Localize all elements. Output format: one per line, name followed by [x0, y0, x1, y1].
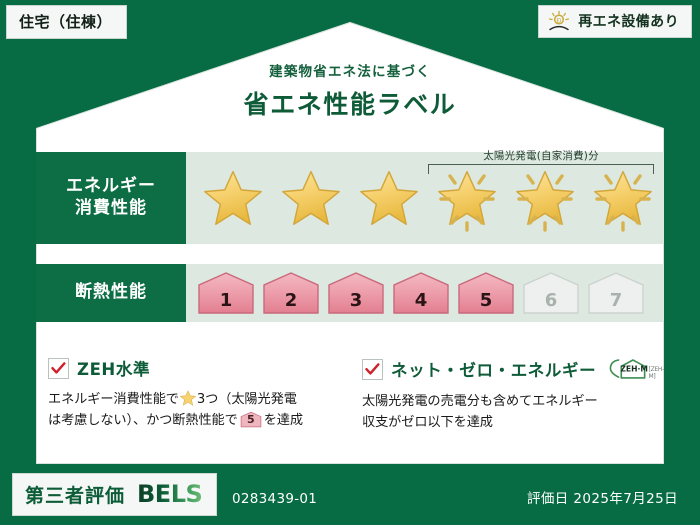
zeh-m-logo-subtext: [ZEH-M] — [649, 366, 669, 382]
star-icon — [594, 169, 652, 227]
renewable-equipment-badge: Ɖ 再エネ設備あり — [538, 5, 692, 38]
net-zero-description: 太陽光発電の売電分も含めてエネルギー 収支がゼロ以下を達成 — [362, 391, 662, 434]
insulation-level-number: 4 — [415, 290, 428, 315]
zeh-m-house-icon: ZEH·M — [606, 356, 647, 382]
renewable-badge-label: 再エネ設備あり — [578, 11, 679, 31]
zeh-standard-heading: ZEH水準 — [48, 356, 348, 380]
insulation-level: 1 — [196, 271, 256, 315]
energy-label-line1: エネルギー — [66, 176, 156, 198]
insulation-level: 4 — [391, 271, 451, 315]
solar-portion-annotation: 太陽光発電(自家消費)分 — [418, 148, 664, 174]
star-icon — [360, 169, 418, 227]
net-zero-energy-section: ネット・ゼロ・エネルギー ZEH·M [ZEH-M] 太陽光発電の売電分も含めて… — [362, 356, 662, 434]
star-icon — [516, 169, 574, 227]
insulation-level-number: 7 — [610, 290, 623, 315]
star-item — [350, 152, 428, 244]
bels-logo-text: BELS — [137, 480, 202, 508]
insulation-level-number: 5 — [480, 290, 493, 315]
insulation-level: 7 — [586, 271, 646, 315]
zeh-standard-section: ZEH水準 エネルギー消費性能で3つ（太陽光発電 は考慮しない）、かつ断熱性能で… — [48, 356, 348, 432]
net-zero-heading: ネット・ゼロ・エネルギー ZEH·M [ZEH-M] — [362, 356, 662, 382]
insulation-level-number: 6 — [545, 290, 558, 315]
insulation-level-number: 1 — [220, 290, 233, 315]
insulation-level: 2 — [261, 271, 321, 315]
energy-label-line2: 消費性能 — [75, 198, 147, 220]
star-icon — [438, 169, 496, 227]
checkbox-zeh-standard[interactable] — [48, 358, 69, 379]
solar-annotation-label: 太陽光発電(自家消費)分 — [418, 148, 664, 163]
insulation-scale-track: 1 2 3 4 — [186, 264, 664, 322]
bels-certification-plate: 第三者評価 BELS — [12, 473, 217, 516]
bels-energy-label: 住宅（住棟） Ɖ 再エネ設備あり 建築物省エネ法に基づく 省エネ性能ラベル エネ… — [0, 0, 700, 525]
zeh-m-logo: ZEH·M [ZEH-M] — [606, 356, 668, 382]
sun-icon: Ɖ — [547, 10, 571, 32]
solar-bracket — [428, 164, 654, 174]
checkbox-net-zero[interactable] — [362, 359, 383, 380]
third-party-eval-label: 第三者評価 — [25, 481, 125, 508]
insulation-level-number: 3 — [350, 290, 363, 315]
insulation-level-number: 2 — [285, 290, 298, 315]
zeh-desc-part2: は考慮しない）、かつ断熱性能で — [48, 413, 238, 428]
insulation-level-inline: 5 — [240, 411, 262, 428]
building-type-tag: 住宅（住棟） — [6, 5, 127, 39]
zeh-desc-part3: を達成 — [264, 413, 303, 428]
evaluation-date: 評価日 2025年7月25日 — [527, 487, 678, 507]
svg-text:Ɖ: Ɖ — [557, 17, 562, 24]
svg-text:ZEH·M: ZEH·M — [621, 365, 648, 374]
energy-performance-label: エネルギー 消費性能 — [36, 152, 186, 244]
insulation-level: 6 — [521, 271, 581, 315]
zeh-standard-title: ZEH水準 — [77, 356, 150, 380]
insulation-level: 5 — [456, 271, 516, 315]
insulation-label-text: 断熱性能 — [75, 282, 147, 304]
footer-bar: 第三者評価 BELS 0283439-01 評価日 2025年7月25日 — [0, 465, 700, 525]
certificate-number: 0283439-01 — [232, 491, 317, 507]
page-title: 省エネ性能ラベル — [0, 85, 700, 121]
star-icon — [204, 169, 262, 227]
insulation-scale: 1 2 3 4 — [186, 271, 646, 315]
insulation-performance-row: 断熱性能 1 2 — [36, 264, 664, 322]
star-item — [194, 152, 272, 244]
check-icon — [51, 362, 66, 375]
zeh-standard-description: エネルギー消費性能で3つ（太陽光発電 は考慮しない）、かつ断熱性能で5を達成 — [48, 389, 348, 432]
net-zero-desc-line1: 太陽光発電の売電分も含めてエネルギー — [362, 394, 598, 409]
check-icon — [365, 363, 380, 376]
zeh-desc-part1: エネルギー消費性能で — [48, 392, 179, 407]
label-title-block: 建築物省エネ法に基づく 省エネ性能ラベル — [0, 60, 700, 121]
zeh-desc-starcount: 3つ（太陽光発電 — [197, 392, 297, 407]
title-subtitle: 建築物省エネ法に基づく — [0, 60, 700, 80]
insulation-level-inline-number: 5 — [240, 411, 262, 429]
net-zero-desc-line2: 収支がゼロ以下を達成 — [362, 415, 493, 430]
star-icon — [282, 169, 340, 227]
star-item — [272, 152, 350, 244]
insulation-level: 3 — [326, 271, 386, 315]
star-icon — [180, 390, 196, 406]
insulation-performance-label: 断熱性能 — [36, 264, 186, 322]
net-zero-title: ネット・ゼロ・エネルギー — [391, 357, 596, 381]
